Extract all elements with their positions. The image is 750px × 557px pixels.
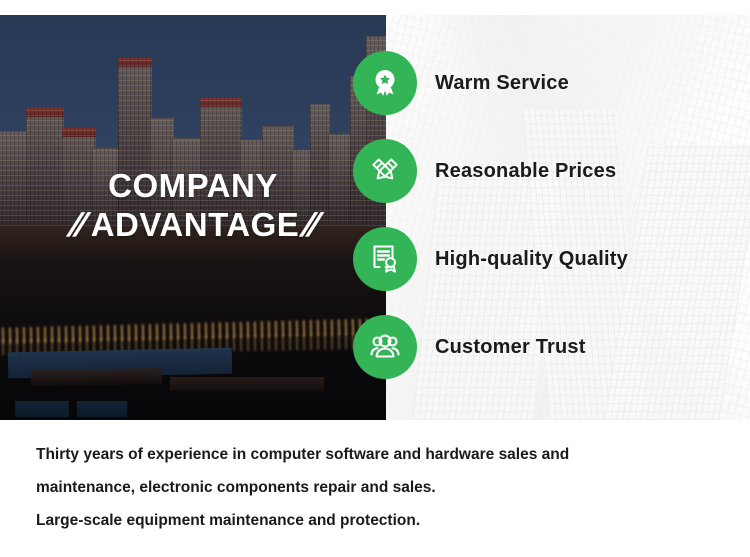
feature-label: High-quality Quality — [435, 248, 628, 271]
description-line-3: Large-scale equipment maintenance and pr… — [36, 504, 726, 537]
feature-item-customer-trust[interactable]: Customer Trust — [353, 315, 586, 379]
feature-label: Warm Service — [435, 72, 569, 95]
description-line-1: Thirty years of experience in computer s… — [36, 438, 726, 471]
title-line-company: COMPANY — [0, 167, 386, 205]
title-line-advantage: //ADVANTAGE// — [0, 205, 386, 245]
slash-decoration-right: // — [298, 205, 320, 245]
description-line-2: maintenance, electronic components repai… — [36, 471, 726, 504]
page-title: COMPANY //ADVANTAGE// — [0, 167, 386, 245]
feature-item-warm-service[interactable]: Warm Service — [353, 51, 569, 115]
company-advantage-banner: COMPANY //ADVANTAGE// Warm Service — [0, 15, 750, 420]
feature-item-reasonable-prices[interactable]: Reasonable Prices — [353, 139, 616, 203]
feature-label: Reasonable Prices — [435, 160, 616, 183]
feature-list: Warm Service Reasonable Prices — [353, 15, 750, 420]
crossed-pencils-icon — [353, 139, 417, 203]
award-badge-icon — [353, 51, 417, 115]
people-group-icon — [353, 315, 417, 379]
feature-item-high-quality[interactable]: High-quality Quality — [353, 227, 628, 291]
feature-label: Customer Trust — [435, 336, 586, 359]
title-advantage-text: ADVANTAGE — [91, 206, 300, 243]
slash-decoration-left: // — [65, 205, 87, 245]
city-skyline-photo: COMPANY //ADVANTAGE// — [0, 15, 386, 420]
description-block: Thirty years of experience in computer s… — [36, 438, 726, 537]
certificate-icon — [353, 227, 417, 291]
